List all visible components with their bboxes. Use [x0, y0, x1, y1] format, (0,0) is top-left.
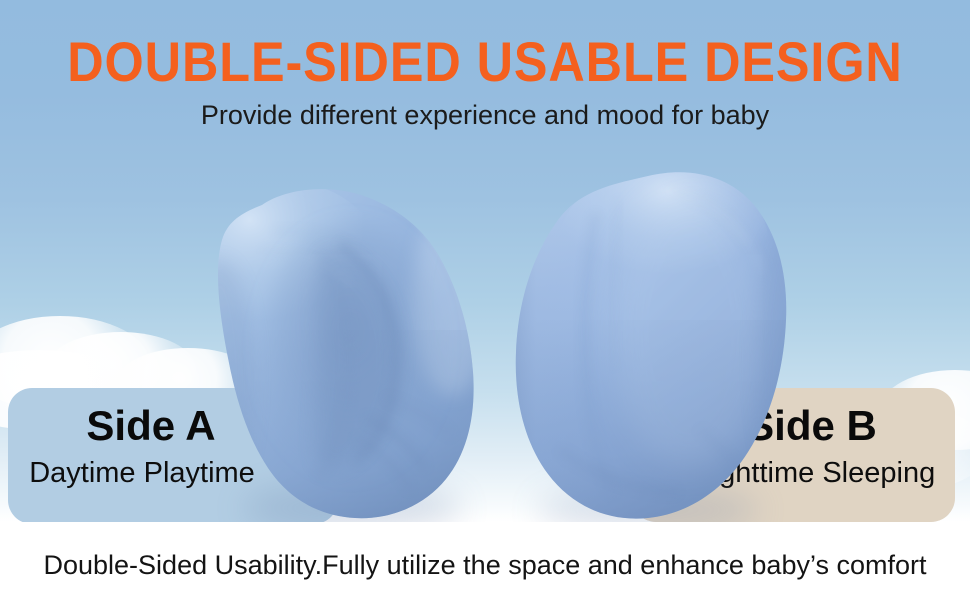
badge-side-b-subtitle: Nighttime Sleeping	[632, 454, 955, 492]
badge-side-a-title: Side A	[8, 402, 338, 450]
badge-side-b: Side B Nighttime Sleeping	[632, 388, 955, 522]
page-subtitle: Provide different experience and mood fo…	[0, 98, 970, 132]
product-feature-banner: DOUBLE-SIDED USABLE DESIGN Provide diffe…	[0, 0, 970, 600]
badge-side-b-title: Side B	[632, 402, 955, 450]
badge-side-a-subtitle: Daytime Playtime	[8, 454, 338, 492]
footer-band: Double-Sided Usability.Fully utilize the…	[0, 522, 970, 600]
page-title: DOUBLE-SIDED USABLE DESIGN	[49, 34, 922, 90]
badge-side-a: Side A Daytime Playtime	[8, 388, 338, 524]
footer-caption: Double-Sided Usability.Fully utilize the…	[0, 548, 970, 582]
